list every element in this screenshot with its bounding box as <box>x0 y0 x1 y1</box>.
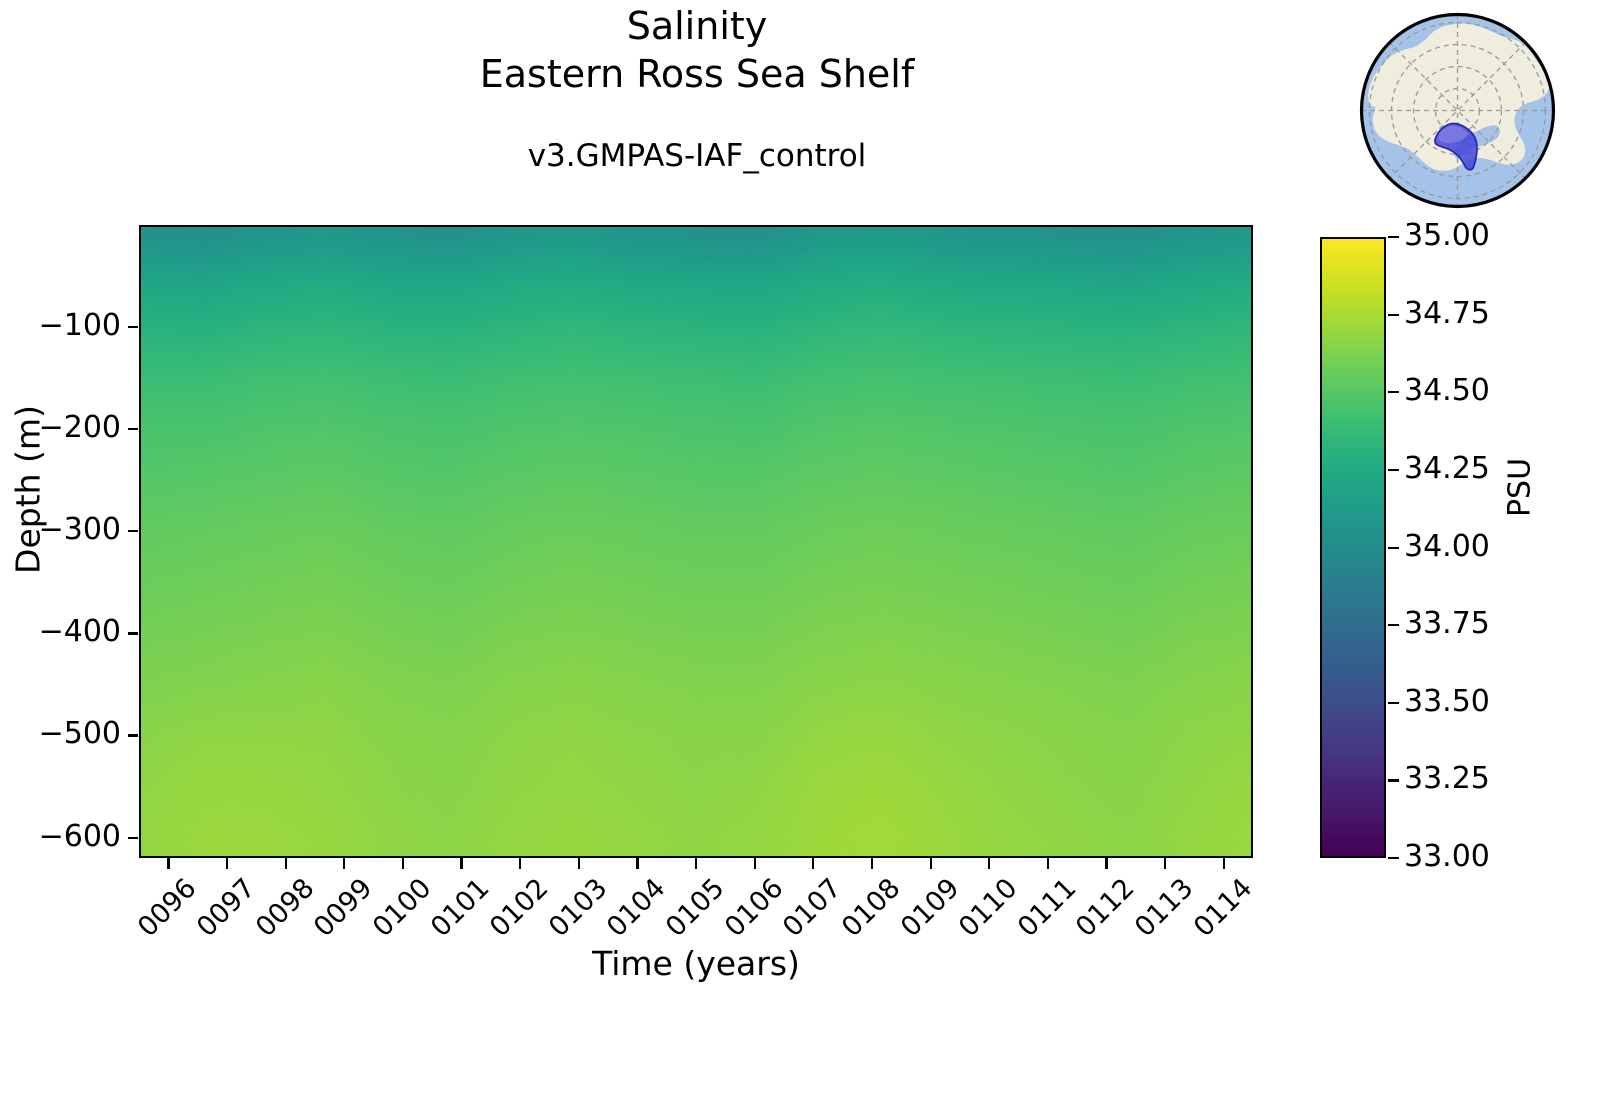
colorbar-tick-mark <box>1388 547 1399 549</box>
y-tick-label: −400 <box>39 617 121 647</box>
x-tick-mark <box>1105 858 1107 869</box>
colorbar-tick-mark <box>1388 391 1399 393</box>
y-tick-label: −600 <box>39 822 121 852</box>
y-tick-label: −300 <box>39 515 121 545</box>
x-axis-label: Time (years) <box>139 944 1253 983</box>
colorbar-tick-label: 34.50 <box>1404 376 1490 406</box>
colorbar-tick-label: 34.25 <box>1404 454 1490 484</box>
y-axis-label: Depth (m) <box>9 330 48 650</box>
y-tick-label: −100 <box>39 311 121 341</box>
colorbar-tick-label: 33.25 <box>1404 764 1490 794</box>
colorbar-tick-label: 34.00 <box>1404 532 1490 562</box>
colorbar-tick-mark <box>1388 314 1399 316</box>
y-tick-label: −200 <box>39 413 121 443</box>
x-tick-mark <box>1047 858 1049 869</box>
heatmap-image <box>141 227 1251 856</box>
colorbar-tick-label: 33.75 <box>1404 609 1490 639</box>
colorbar-unit-label: PSU <box>1503 388 1538 588</box>
y-tick-mark <box>128 428 138 430</box>
y-tick-mark <box>128 326 138 328</box>
x-tick-mark <box>1223 858 1225 869</box>
x-tick-mark <box>578 858 580 869</box>
salinity-heatmap-axes <box>139 225 1253 858</box>
colorbar-tick-mark <box>1388 469 1399 471</box>
y-tick-label: −500 <box>39 719 121 749</box>
colorbar-tick-label: 35.00 <box>1404 221 1490 251</box>
x-tick-mark <box>226 858 228 869</box>
colorbar-tick-mark <box>1388 624 1399 626</box>
x-tick-mark <box>460 858 462 869</box>
figure-title: Salinity Eastern Ross Sea Shelf <box>140 2 1254 98</box>
colorbar-tick-label: 33.00 <box>1404 842 1490 872</box>
colorbar-tick-mark <box>1388 702 1399 704</box>
y-tick-mark <box>128 632 138 634</box>
y-tick-mark <box>128 734 138 736</box>
x-tick-mark <box>695 858 697 869</box>
colorbar-tick-label: 33.50 <box>1404 687 1490 717</box>
title-line-2: Eastern Ross Sea Shelf <box>140 50 1254 98</box>
colorbar-gradient <box>1322 239 1384 856</box>
x-tick-mark <box>636 858 638 869</box>
x-tick-mark <box>988 858 990 869</box>
x-tick-mark <box>1164 858 1166 869</box>
colorbar-tick-mark <box>1388 236 1399 238</box>
x-tick-mark <box>930 858 932 869</box>
antarctica-inset-map <box>1355 8 1560 213</box>
x-tick-mark <box>754 858 756 869</box>
colorbar-tick-label: 34.75 <box>1404 299 1490 329</box>
x-tick-mark <box>812 858 814 869</box>
colorbar-tick-mark <box>1388 779 1399 781</box>
title-line-1: Salinity <box>140 2 1254 50</box>
y-tick-mark <box>128 530 138 532</box>
colorbar-tick-mark <box>1388 857 1399 859</box>
y-tick-mark <box>128 837 138 839</box>
x-tick-mark <box>402 858 404 869</box>
colorbar <box>1320 237 1386 858</box>
x-tick-mark <box>285 858 287 869</box>
x-tick-mark <box>519 858 521 869</box>
x-tick-mark <box>343 858 345 869</box>
x-tick-mark <box>167 858 169 869</box>
x-tick-mark <box>871 858 873 869</box>
figure-subtitle: v3.GMPAS-IAF_control <box>140 136 1254 176</box>
